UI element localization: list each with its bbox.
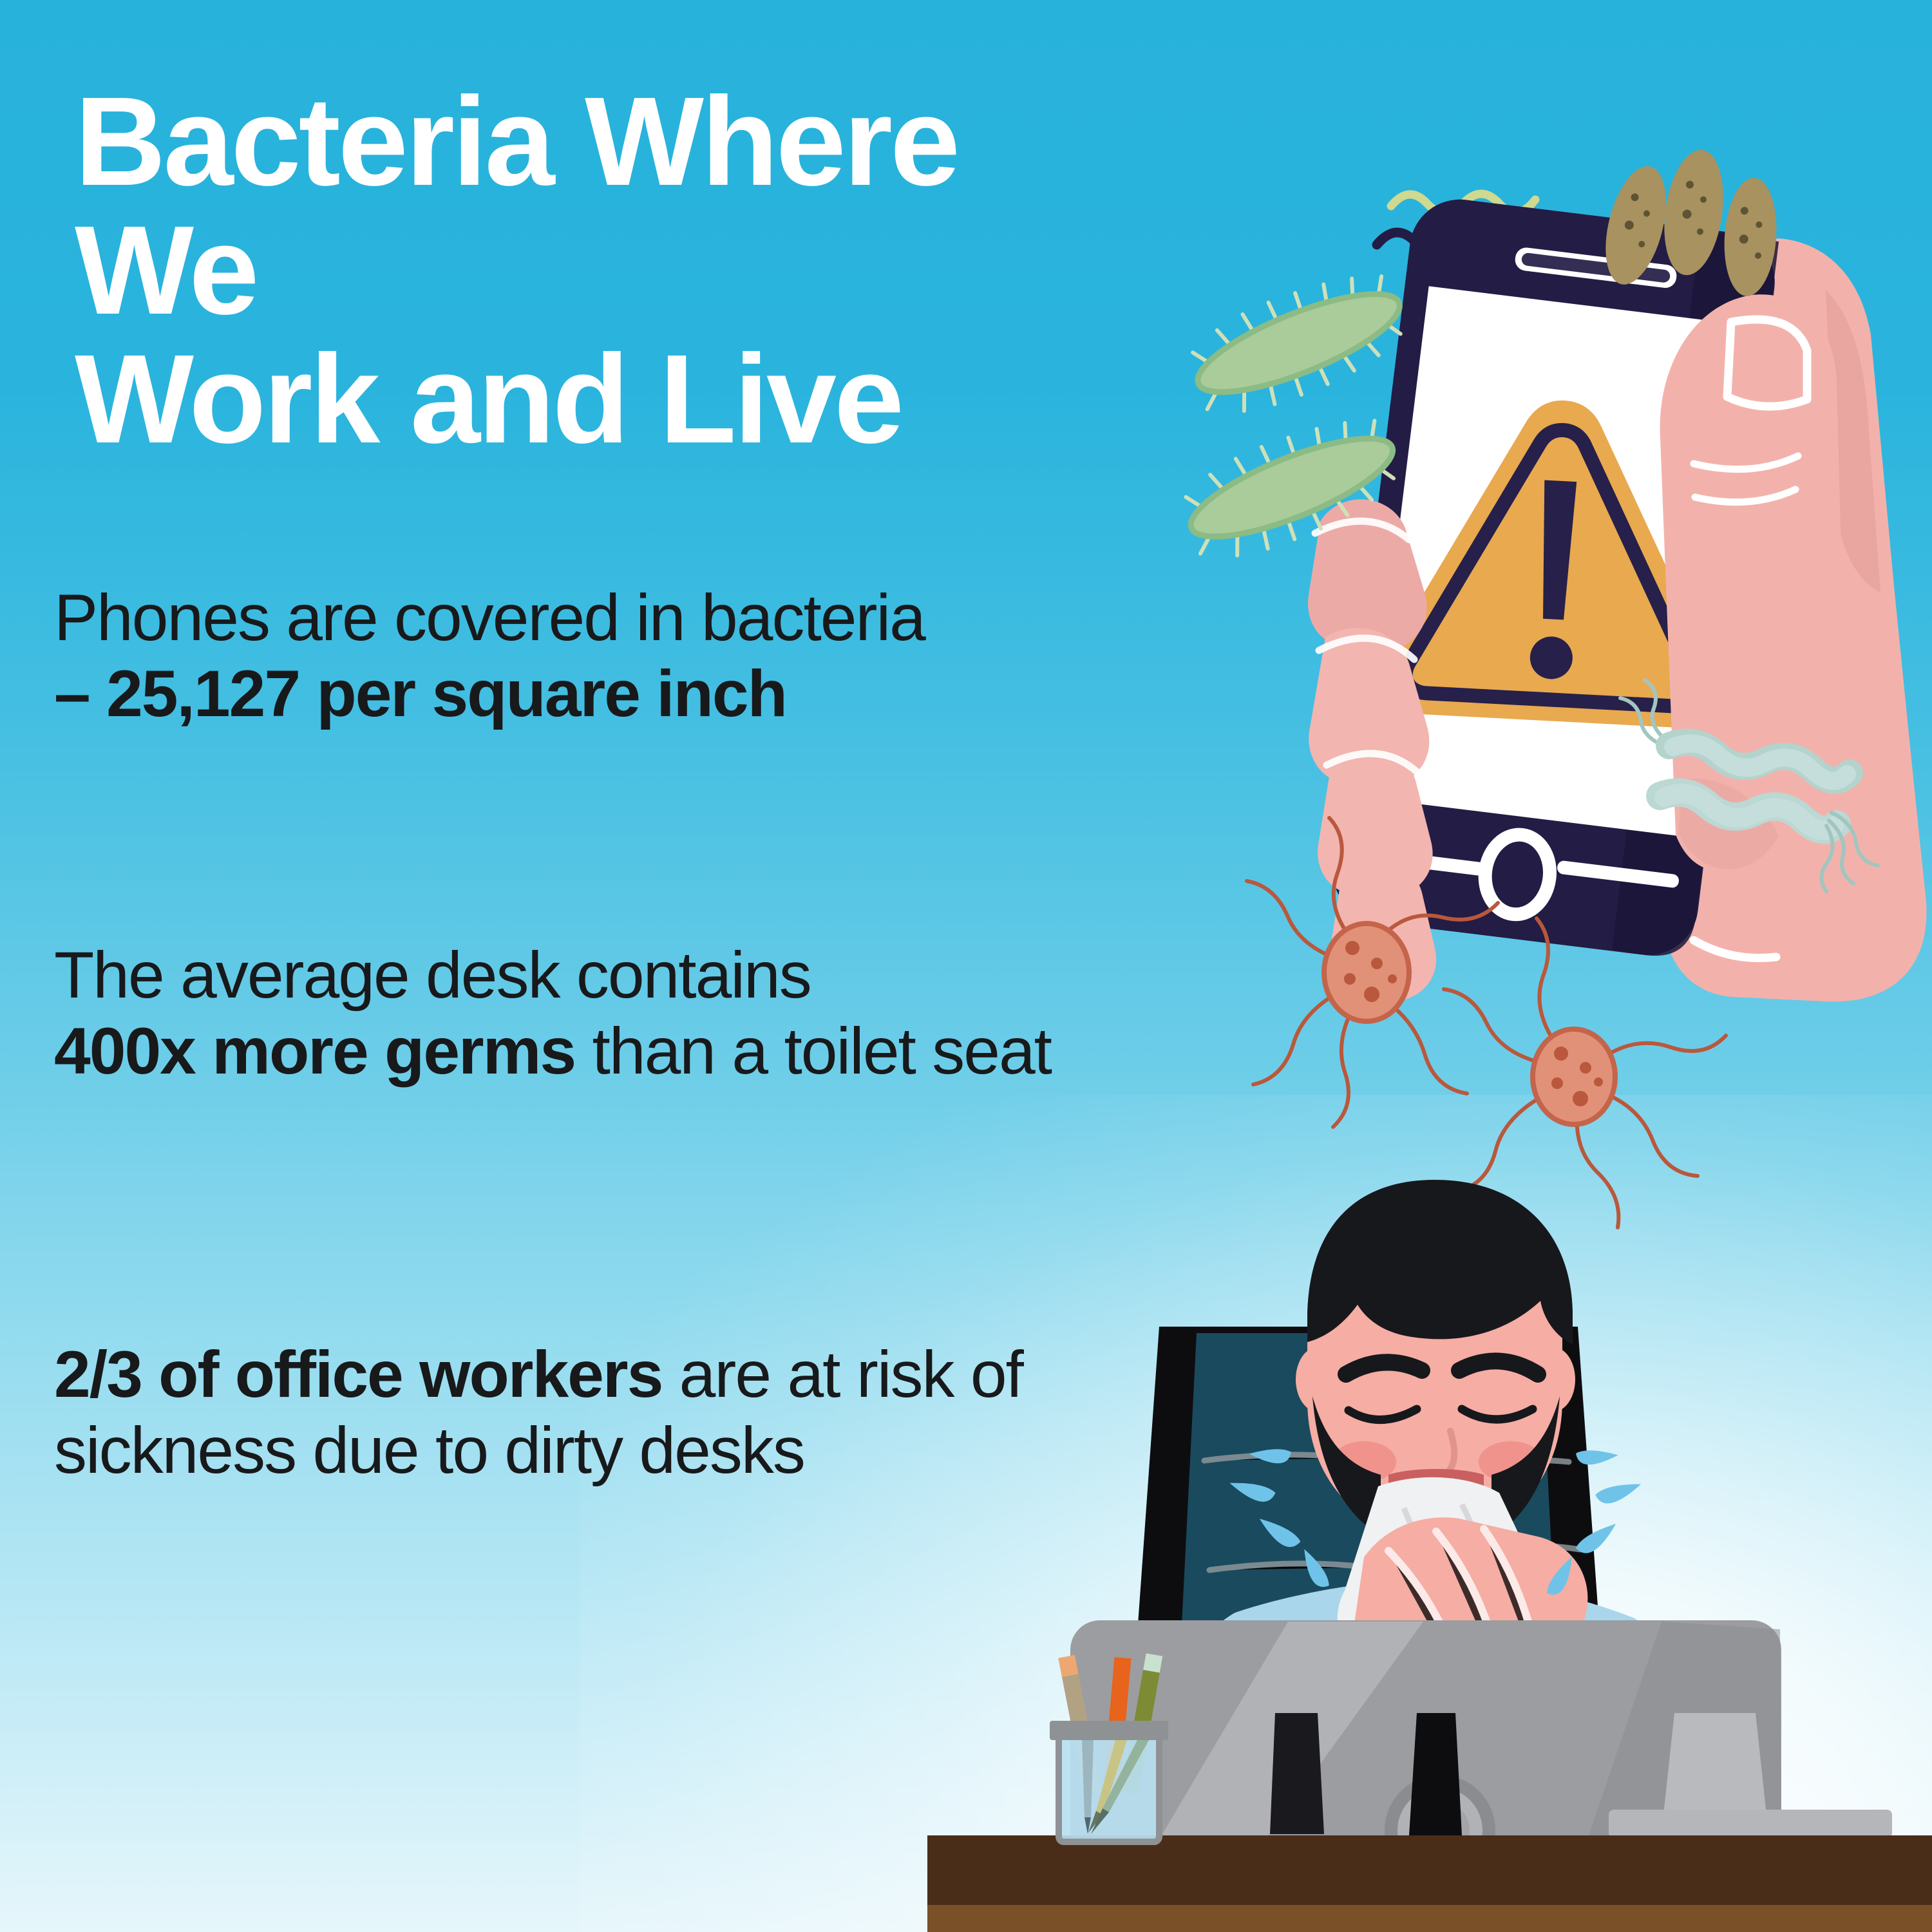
stat-phones-lead: Phones are covered in bacteria: [54, 581, 925, 654]
page-title-line-2: Work and Live: [75, 335, 1170, 464]
stat-phones-value: – 25,127 per square inch: [54, 657, 786, 730]
stat-workers: 2/3 of office workers are at risk of sic…: [54, 1336, 1059, 1489]
chair-post: [1409, 1713, 1462, 1835]
pencil-cup-illustration: [1005, 1649, 1211, 1842]
stat-desk: The average desk contains 400x more germ…: [54, 937, 1149, 1090]
glass-rim: [1050, 1721, 1168, 1740]
chair-leg: [1270, 1713, 1324, 1834]
stat-workers-value: 2/3 of office workers: [54, 1338, 662, 1411]
hand-holding-phone-illustration: [1243, 129, 1932, 1095]
infographic-poster: Bacteria Where We Work and Live Phones a…: [0, 0, 1932, 1932]
page-title-line-1: Bacteria Where We: [75, 77, 1170, 335]
stat-desk-lead: The average desk contains: [54, 938, 811, 1012]
keyboard: [1609, 1810, 1892, 1838]
page-title: Bacteria Where We Work and Live: [75, 77, 1170, 464]
stat-desk-value: 400x more germs: [54, 1014, 575, 1088]
stat-desk-trail: than a toilet seat: [575, 1014, 1051, 1088]
stat-phones: Phones are covered in bacteria – 25,127 …: [54, 580, 1316, 732]
desk-top: [927, 1835, 1932, 1905]
desk-edge: [927, 1905, 1932, 1932]
droplet: [1594, 1469, 1641, 1514]
